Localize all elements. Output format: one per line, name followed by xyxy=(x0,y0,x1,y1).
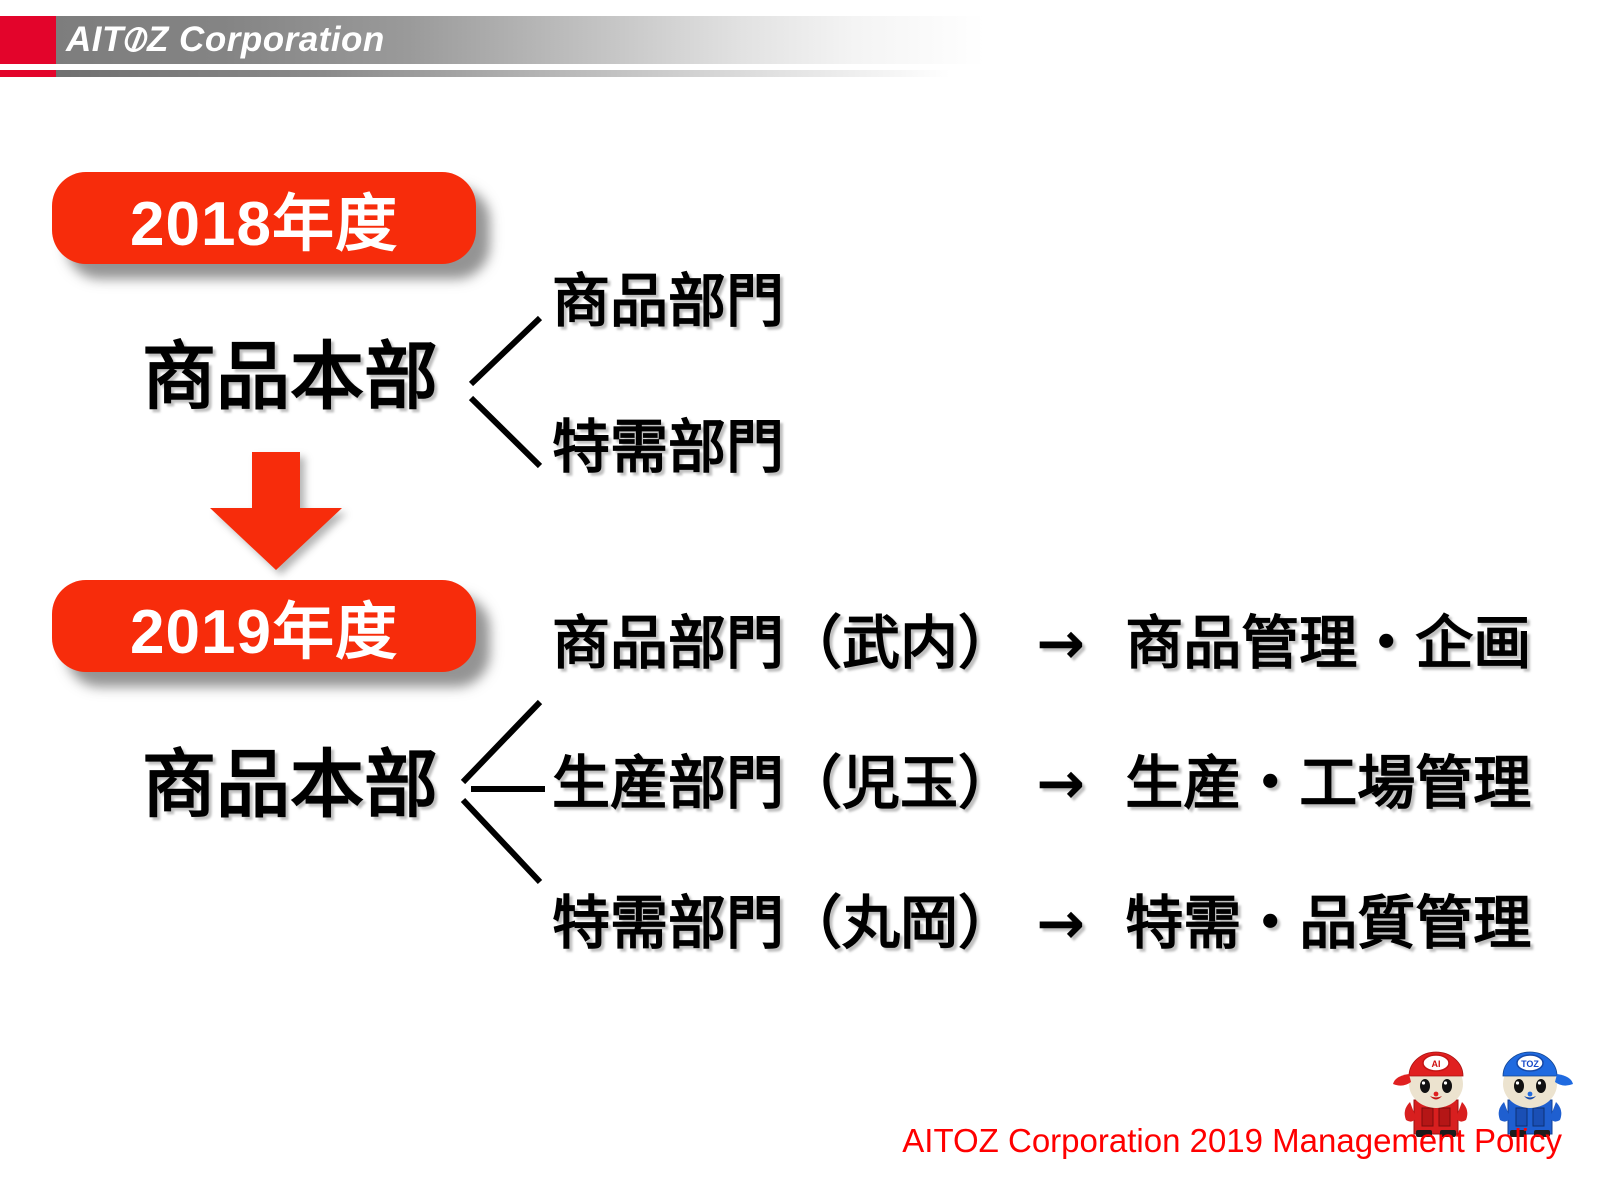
department-2019-name-1: 商品部門（武内） xyxy=(552,609,1016,677)
connector-2018-top xyxy=(471,318,540,384)
department-2019-name-2: 生産部門（児玉） xyxy=(552,749,1016,817)
department-2019-scope-3: 特需・品質管理 xyxy=(1125,889,1531,957)
slide-header: AITZ Corporation xyxy=(0,0,1600,92)
department-2019-name-3: 特需部門（丸岡） xyxy=(552,889,1016,957)
headquarters-2019: 商品本部 xyxy=(142,748,438,822)
mapping-arrow-3: → xyxy=(1036,889,1085,957)
down-arrow-icon xyxy=(206,452,346,572)
department-2019-scope-2: 生産・工場管理 xyxy=(1125,749,1531,817)
brand-title-suffix: Z Corporation xyxy=(147,20,385,59)
footer-caption: AITOZ Corporation 2019 Management Policy xyxy=(0,1122,1562,1160)
headquarters-2018: 商品本部 xyxy=(142,340,438,414)
aitoz-logo-icon xyxy=(125,27,147,52)
year-badge-2019[interactable]: 2019年度 xyxy=(52,580,476,672)
header-underline-red xyxy=(0,70,56,77)
slide-canvas: AITZ Corporation 2018年度 商品本部 商品部門 特需部門 2… xyxy=(0,0,1600,1200)
connector-2019-top xyxy=(463,702,540,782)
department-2019-row-1: 商品部門（武内） → 商品管理・企画 xyxy=(552,614,1531,672)
year-badge-2018[interactable]: 2018年度 xyxy=(52,172,476,264)
department-2019-row-2: 生産部門（児玉） → 生産・工場管理 xyxy=(552,754,1531,812)
mapping-arrow-2: → xyxy=(1036,749,1085,817)
connector-2018-bottom xyxy=(471,398,540,466)
header-red-block xyxy=(0,16,56,64)
connector-2019-bottom xyxy=(463,800,540,882)
department-2018-2: 特需部門 xyxy=(552,418,784,476)
header-underline-gray xyxy=(55,70,950,77)
mapping-arrow-1: → xyxy=(1036,609,1085,677)
department-2019-row-3: 特需部門（丸岡） → 特需・品質管理 xyxy=(552,894,1531,952)
department-2019-scope-1: 商品管理・企画 xyxy=(1125,609,1531,677)
department-2018-1: 商品部門 xyxy=(552,272,784,330)
brand-title-prefix: AIT xyxy=(66,20,124,59)
brand-title: AITZ Corporation xyxy=(66,18,385,62)
mascot-red-cap-text: AI xyxy=(1432,1059,1441,1069)
mascot-blue-cap-text: TOZ xyxy=(1521,1059,1539,1069)
